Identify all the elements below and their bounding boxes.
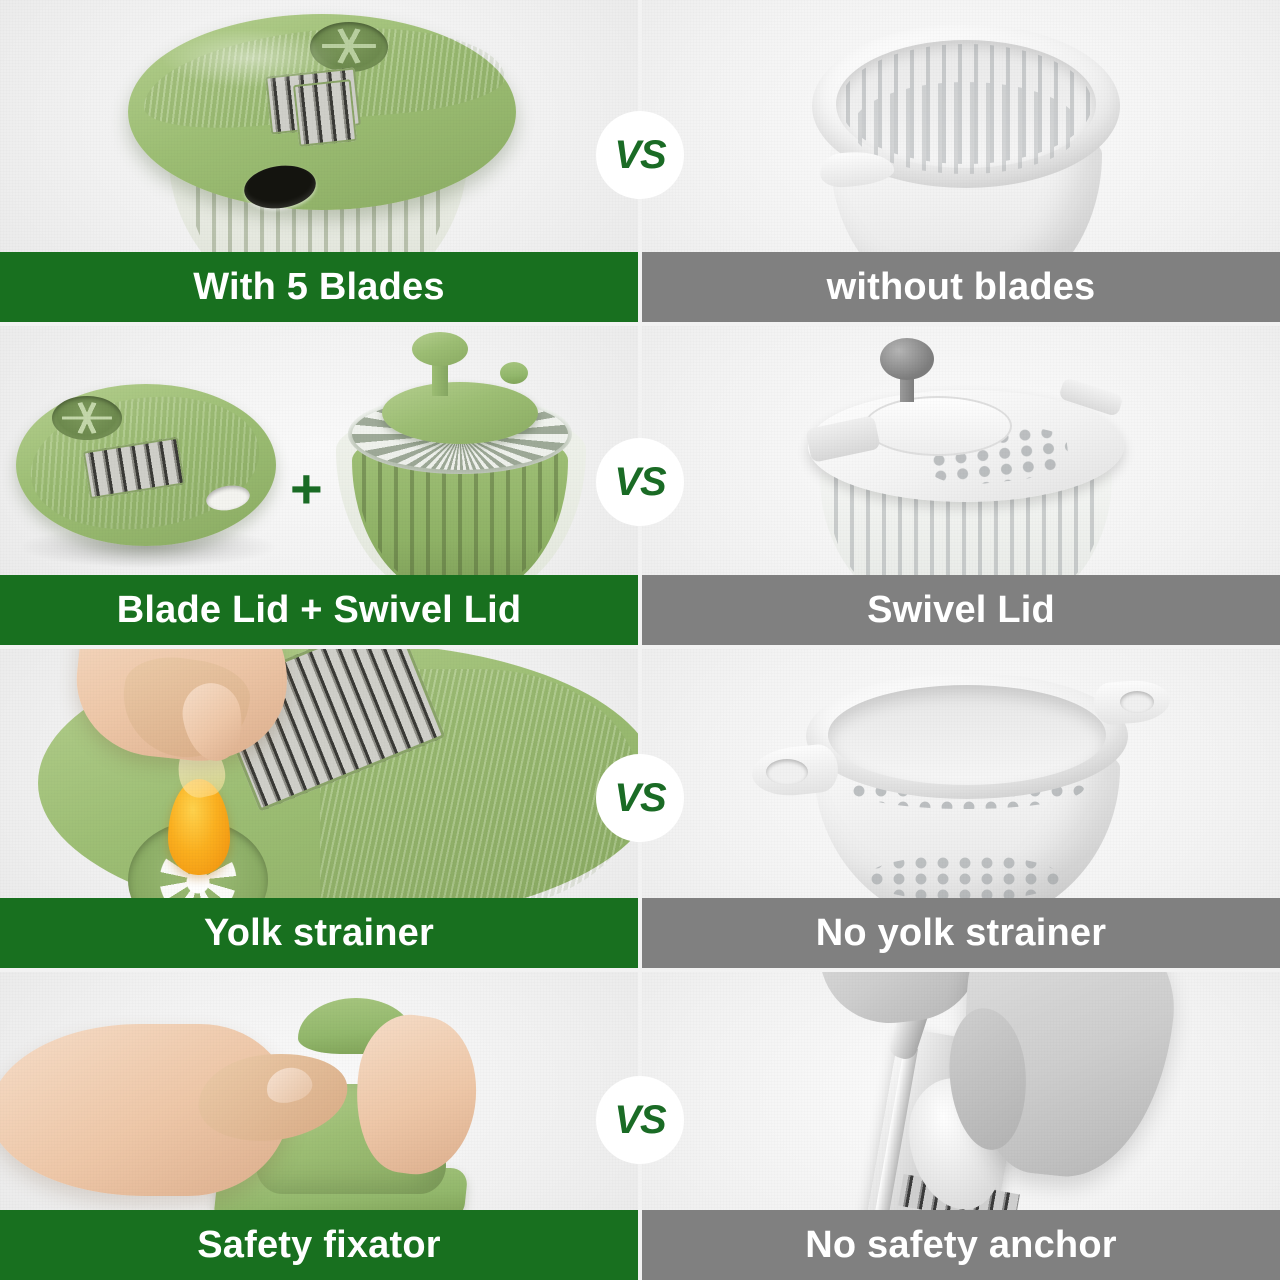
vs-badge-row-1: VS <box>598 113 682 197</box>
con-cell-no-safety-anchor: No safety anchor <box>642 972 1280 1280</box>
label-swivel-lid: Swivel Lid <box>642 575 1280 645</box>
con-cell-no-blades: without blades <box>642 0 1280 322</box>
grater-blade-strip-2 <box>293 79 357 147</box>
label-without-blades: without blades <box>642 252 1280 322</box>
label-with-5-blades: With 5 Blades <box>0 252 638 322</box>
lid-highlight <box>160 28 340 88</box>
label-no-safety-anchor: No safety anchor <box>642 1210 1280 1280</box>
colander-handle-right-hole <box>1120 691 1154 713</box>
vs-badge-row-3: VS <box>598 756 682 840</box>
pro-cell-yolk-strainer: Yolk strainer <box>0 649 638 968</box>
con-cell-swivel-lid-only: Swivel Lid <box>642 326 1280 645</box>
brake-button <box>500 362 528 384</box>
vs-badge-row-2: VS <box>598 440 682 524</box>
vs-badge-row-4: VS <box>598 1078 682 1162</box>
lid-center-disc <box>864 396 1012 456</box>
colander-holes-lower <box>866 855 1062 901</box>
swivel-lid-knob <box>412 332 468 366</box>
pro-cell-blades: With 5 Blades <box>0 0 638 322</box>
colander-inner <box>828 685 1106 785</box>
label-no-yolk-strainer: No yolk strainer <box>642 898 1280 968</box>
swivel-lid-dome <box>382 382 538 444</box>
product-comparison-infographic: With 5 Blades without blades VS <box>0 0 1280 1280</box>
pro-cell-two-lids: + Blade Lid + Swivel Lid <box>0 326 638 645</box>
label-yolk-strainer: Yolk strainer <box>0 898 638 968</box>
label-safety-fixator: Safety fixator <box>0 1210 638 1280</box>
flat-lid-yolk-spokes <box>62 402 112 434</box>
con-cell-no-yolk-strainer: No yolk strainer <box>642 649 1280 968</box>
plus-combiner: + <box>290 456 323 521</box>
grey-knob <box>880 338 934 380</box>
colander-handle-left-hole <box>766 759 808 785</box>
pro-cell-safety-fixator: Safety fixator <box>0 972 638 1280</box>
label-blade-lid-plus-swivel-lid: Blade Lid + Swivel Lid <box>0 575 638 645</box>
